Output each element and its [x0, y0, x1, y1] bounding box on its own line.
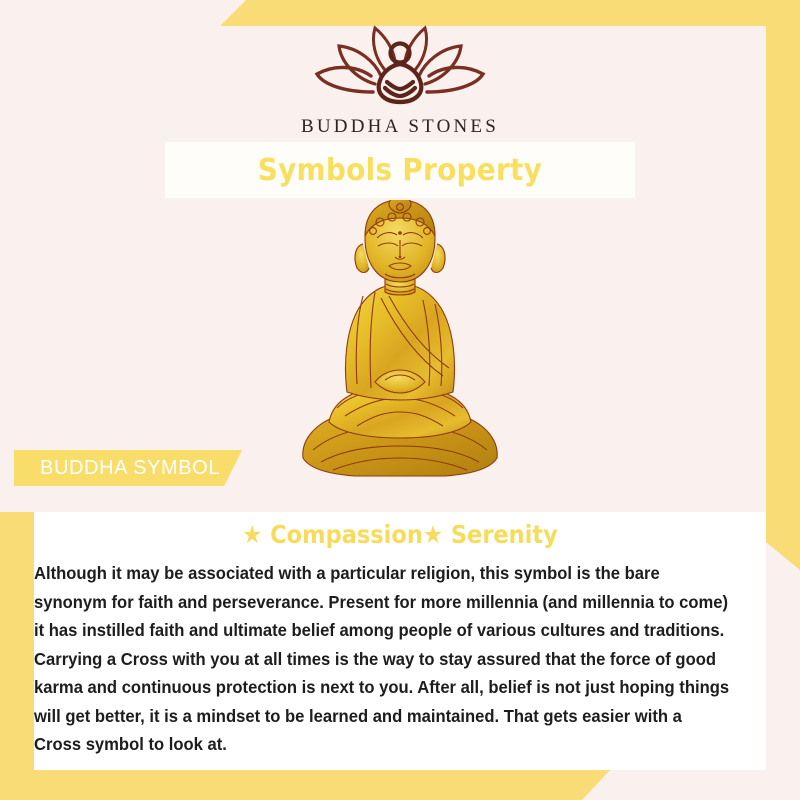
page-title: Symbols Property — [258, 153, 542, 188]
frame-band-bottom — [0, 770, 610, 800]
section-ribbon: BUDDHA SYMBOL — [14, 450, 242, 486]
title-banner: Symbols Property — [165, 142, 635, 198]
brand-logo: BUDDHA STONES — [0, 18, 800, 138]
brand-name: BUDDHA STONES — [0, 116, 800, 138]
content-panel: ★ Compassion★ Serenity Although it may b… — [34, 512, 766, 770]
section-ribbon-label: BUDDHA SYMBOL — [40, 457, 220, 480]
golden-buddha-statue-icon — [285, 200, 515, 490]
hero-image — [0, 200, 800, 490]
content-paragraph: Although it may be associated with a par… — [34, 559, 733, 759]
content-subtitle: ★ Compassion★ Serenity — [71, 520, 730, 549]
lotus-meditation-icon — [305, 18, 495, 114]
promo-card: BUDDHA STONES Symbols Property — [0, 0, 800, 800]
